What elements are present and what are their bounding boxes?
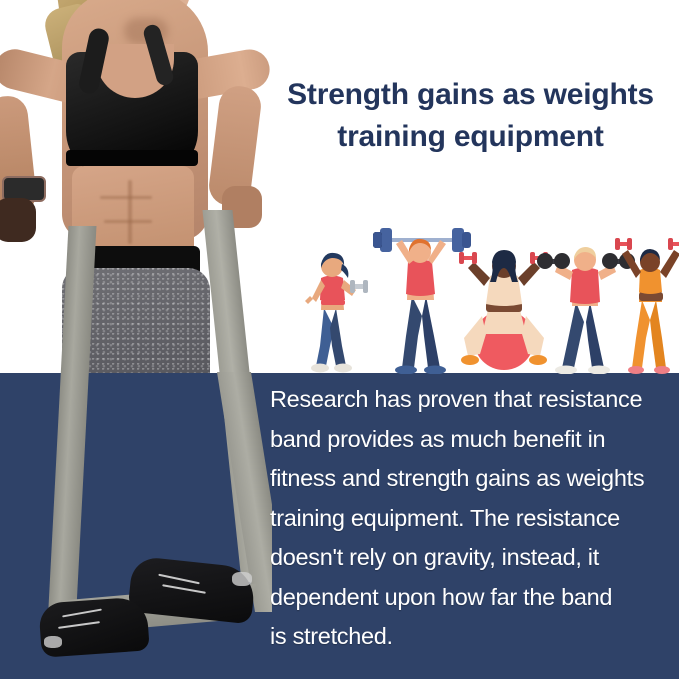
page-title: Strength gains as weights training equip…	[262, 74, 679, 158]
model-midriff	[72, 166, 194, 258]
body-line: band provides as much benefit in	[270, 420, 674, 460]
ab-line	[104, 220, 152, 223]
body-line: fitness and strength gains as weights	[270, 459, 674, 499]
body-line: training equipment. The resistance	[270, 499, 674, 539]
marketing-image: Strength gains as weights training equip…	[0, 0, 679, 679]
model-right-hand	[222, 186, 262, 228]
body-line: Research has proven that resistance	[270, 380, 674, 420]
dumbbell-icon	[537, 253, 570, 269]
dumbbell-icon	[615, 238, 632, 250]
dumbbell-icon	[459, 252, 477, 264]
headline-line-2: training equipment	[262, 116, 679, 158]
ab-line	[128, 180, 132, 244]
body-line: is stretched.	[270, 617, 674, 657]
body-line: dependent upon how far the band	[270, 578, 674, 618]
body-paragraph: Research has proven that resistance band…	[270, 380, 674, 657]
figure-woman-arms-raised	[612, 228, 679, 374]
exercise-illustration	[280, 212, 679, 374]
figure-woman-dumbbell-curl	[294, 242, 372, 374]
dumbbell-icon	[350, 280, 368, 293]
bra-under-band	[66, 150, 198, 166]
dumbbell-icon	[668, 238, 679, 250]
headline-line-1: Strength gains as weights	[262, 74, 679, 116]
ab-line	[100, 196, 152, 199]
body-line: doesn't rely on gravity, instead, it	[270, 538, 674, 578]
model-left-hand	[0, 198, 36, 242]
